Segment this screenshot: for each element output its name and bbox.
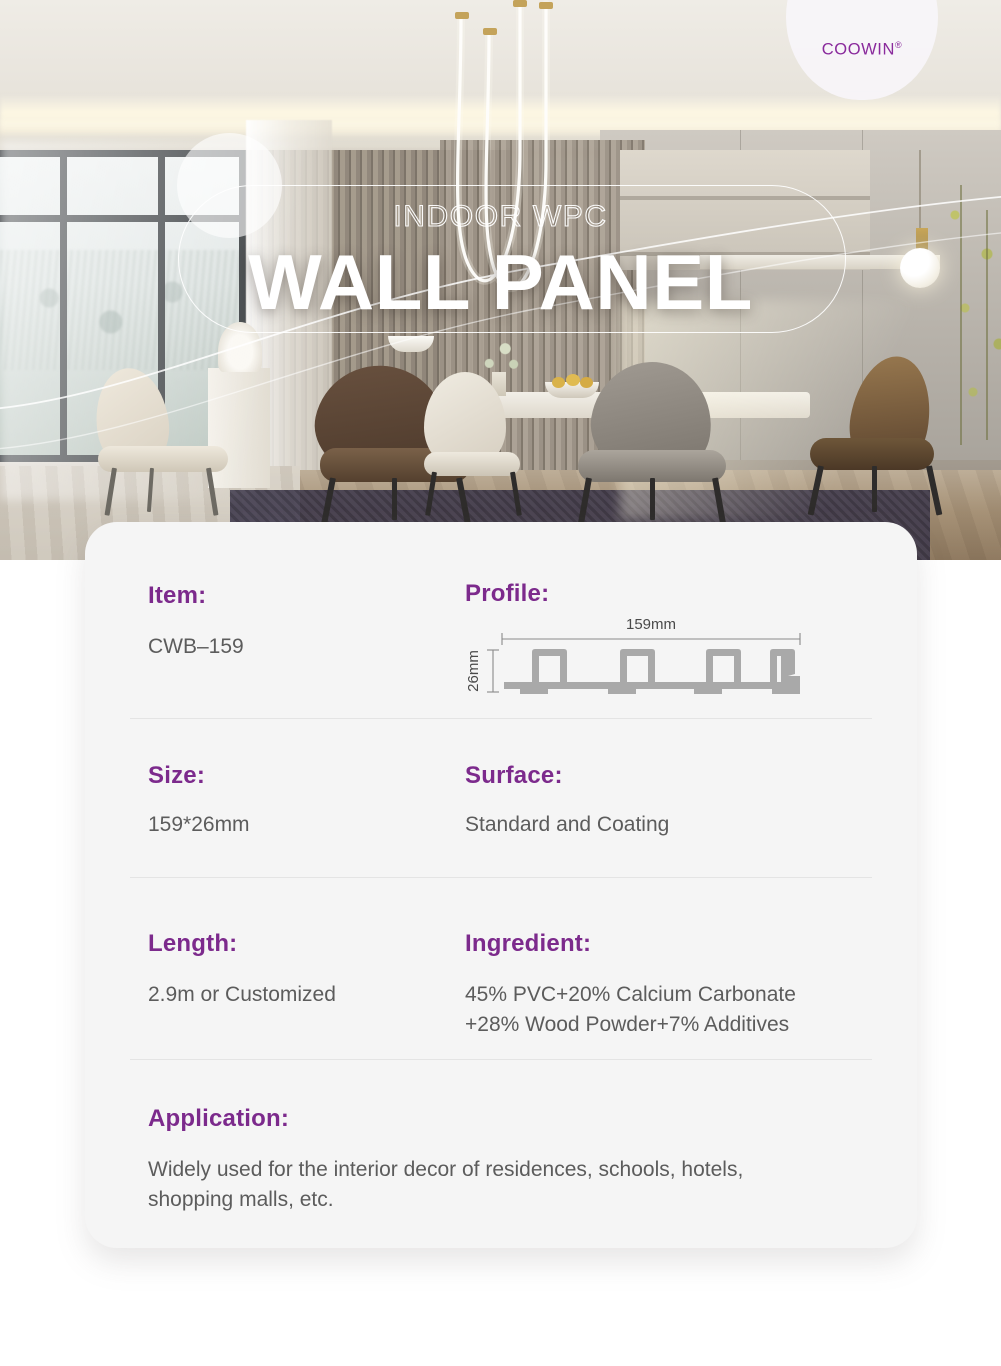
surface-value: Standard and Coating — [465, 810, 669, 840]
divider-3 — [130, 1059, 872, 1060]
width-dimension-label: 159mm — [626, 616, 676, 633]
hero-subtitle: INDOOR WPC — [0, 200, 1001, 234]
trademark-symbol: ® — [895, 40, 902, 50]
brand-logo: COOWIN® — [786, 40, 938, 60]
width-dimension-line — [502, 633, 800, 645]
item-label: Item: — [148, 582, 206, 610]
application-value: Widely used for the interior decor of re… — [148, 1155, 743, 1215]
size-value: 159*26mm — [148, 810, 250, 840]
panel-profile-shape — [504, 649, 800, 694]
divider-2 — [130, 877, 872, 878]
application-label: Application: — [148, 1105, 289, 1133]
hero-banner: INDOOR WPC WALL PANEL COOWIN® — [0, 0, 1001, 560]
length-label: Length: — [148, 930, 237, 958]
ingredient-label: Ingredient: — [465, 930, 591, 958]
ingredient-value: 45% PVC+20% Calcium Carbonate +28% Wood … — [465, 980, 796, 1040]
height-dimension-label: 26mm — [465, 650, 482, 692]
profile-diagram: 159mm 26mm — [460, 614, 810, 704]
profile-label: Profile: — [465, 580, 549, 608]
profile-cross-section-svg: 159mm 26mm — [460, 614, 810, 704]
spec-card: Item: CWB–159 Profile: 159mm — [85, 522, 917, 1248]
surface-label: Surface: — [465, 762, 563, 790]
divider-1 — [130, 718, 872, 719]
height-dimension-line — [487, 650, 499, 692]
length-value: 2.9m or Customized — [148, 980, 336, 1010]
brand-name: COOWIN — [822, 41, 895, 59]
size-label: Size: — [148, 762, 205, 790]
hero-title: WALL PANEL — [0, 237, 1001, 328]
product-spec-page: INDOOR WPC WALL PANEL COOWIN® Item: CWB–… — [0, 0, 1001, 1366]
item-value: CWB–159 — [148, 632, 244, 662]
